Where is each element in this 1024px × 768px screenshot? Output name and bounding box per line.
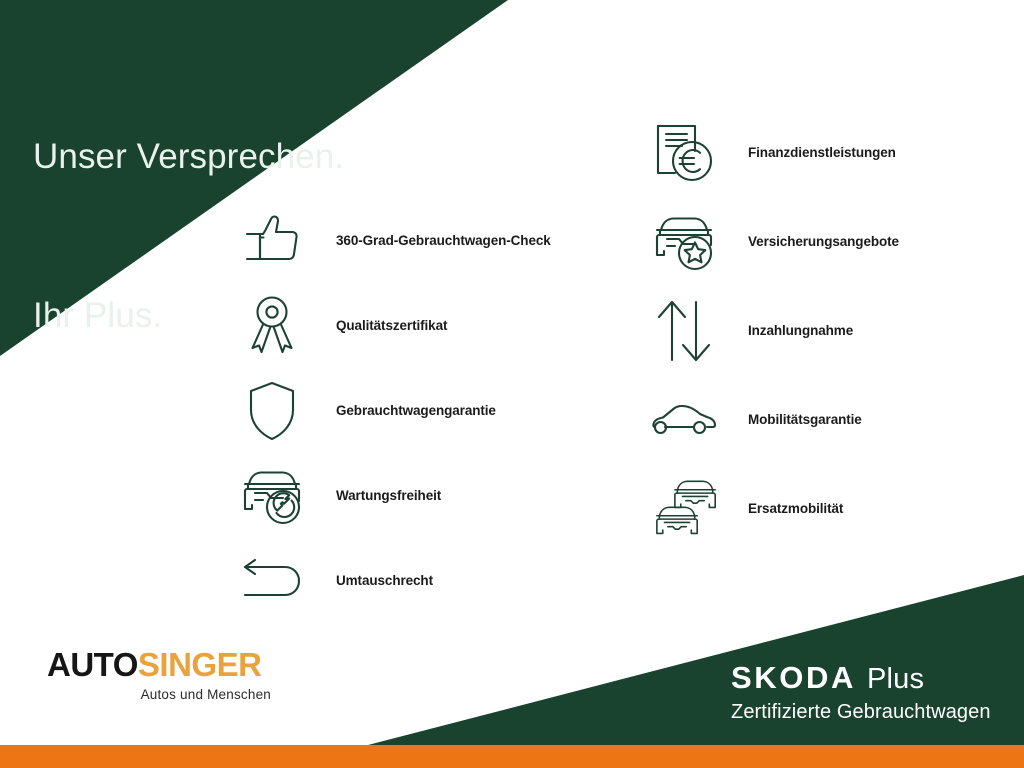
- dealer-tagline: Autos und Menschen: [47, 687, 273, 702]
- return-arrow-icon: [233, 546, 311, 616]
- benefit-label: Inzahlungnahme: [723, 323, 853, 339]
- benefit-item-trade-in: Inzahlungnahme: [645, 296, 1024, 366]
- benefit-label: Versicherungsangebote: [723, 234, 899, 250]
- brand-subtitle: Zertifizierte Gebrauchtwagen: [731, 701, 991, 724]
- car-side-icon: [645, 385, 723, 455]
- document-euro-icon: [645, 118, 723, 188]
- benefit-label: Umtauschrecht: [311, 573, 433, 589]
- benefit-label: Wartungsfreiheit: [311, 488, 441, 504]
- page-title-line-1: Unser Versprechen.: [33, 130, 344, 183]
- benefit-item-replacement-mobility: Ersatzmobilität: [645, 474, 1024, 544]
- benefit-item-360-check: 360-Grad-Gebrauchtwagen-Check: [233, 206, 623, 276]
- promo-slide: Unser Versprechen. Ihr Plus. 360-Grad-Ge…: [0, 0, 1024, 768]
- car-star-icon: [645, 207, 723, 277]
- dealer-wordmark-primary: AUTO: [47, 646, 138, 683]
- benefits-column-right: Finanzdienstleistungen Versicherungsange…: [645, 118, 1024, 563]
- award-rosette-icon: [233, 291, 311, 361]
- brand-logo-line-1: SKODA Plus: [731, 662, 991, 694]
- benefit-item-maintenance: Wartungsfreiheit: [233, 461, 623, 531]
- brand-logo: SKODA Plus Zertifizierte Gebrauchtwagen: [731, 662, 991, 724]
- benefit-item-insurance: Versicherungsangebote: [645, 207, 1024, 277]
- shield-icon: [233, 376, 311, 446]
- benefit-label: Gebrauchtwagengarantie: [311, 403, 496, 419]
- brand-suffix: Plus: [867, 665, 924, 694]
- benefit-label: 360-Grad-Gebrauchtwagen-Check: [311, 233, 551, 249]
- dealer-logo: AUTOSINGER Autos und Menschen: [47, 648, 273, 702]
- benefit-label: Ersatzmobilität: [723, 501, 843, 517]
- two-cars-icon: [645, 474, 723, 544]
- benefit-label: Finanzdienstleistungen: [723, 145, 896, 161]
- benefit-label: Qualitätszertifikat: [311, 318, 447, 334]
- brand-name: SKODA: [731, 662, 856, 693]
- dealer-wordmark-accent: SINGER: [138, 646, 262, 683]
- car-wrench-icon: [233, 461, 311, 531]
- up-down-arrows-icon: [645, 296, 723, 366]
- benefit-item-financial-services: Finanzdienstleistungen: [645, 118, 1024, 188]
- benefits-column-left: 360-Grad-Gebrauchtwagen-Check Qualitätsz…: [233, 206, 623, 631]
- benefit-item-exchange-right: Umtauschrecht: [233, 546, 623, 616]
- dealer-wordmark: AUTOSINGER: [47, 648, 273, 681]
- thumbs-up-icon: [233, 206, 311, 276]
- orange-footer-bar: [0, 745, 1024, 768]
- benefit-item-warranty: Gebrauchtwagengarantie: [233, 376, 623, 446]
- benefit-item-quality-certificate: Qualitätszertifikat: [233, 291, 623, 361]
- benefit-item-mobility-guarantee: Mobilitätsgarantie: [645, 385, 1024, 455]
- benefit-label: Mobilitätsgarantie: [723, 412, 862, 428]
